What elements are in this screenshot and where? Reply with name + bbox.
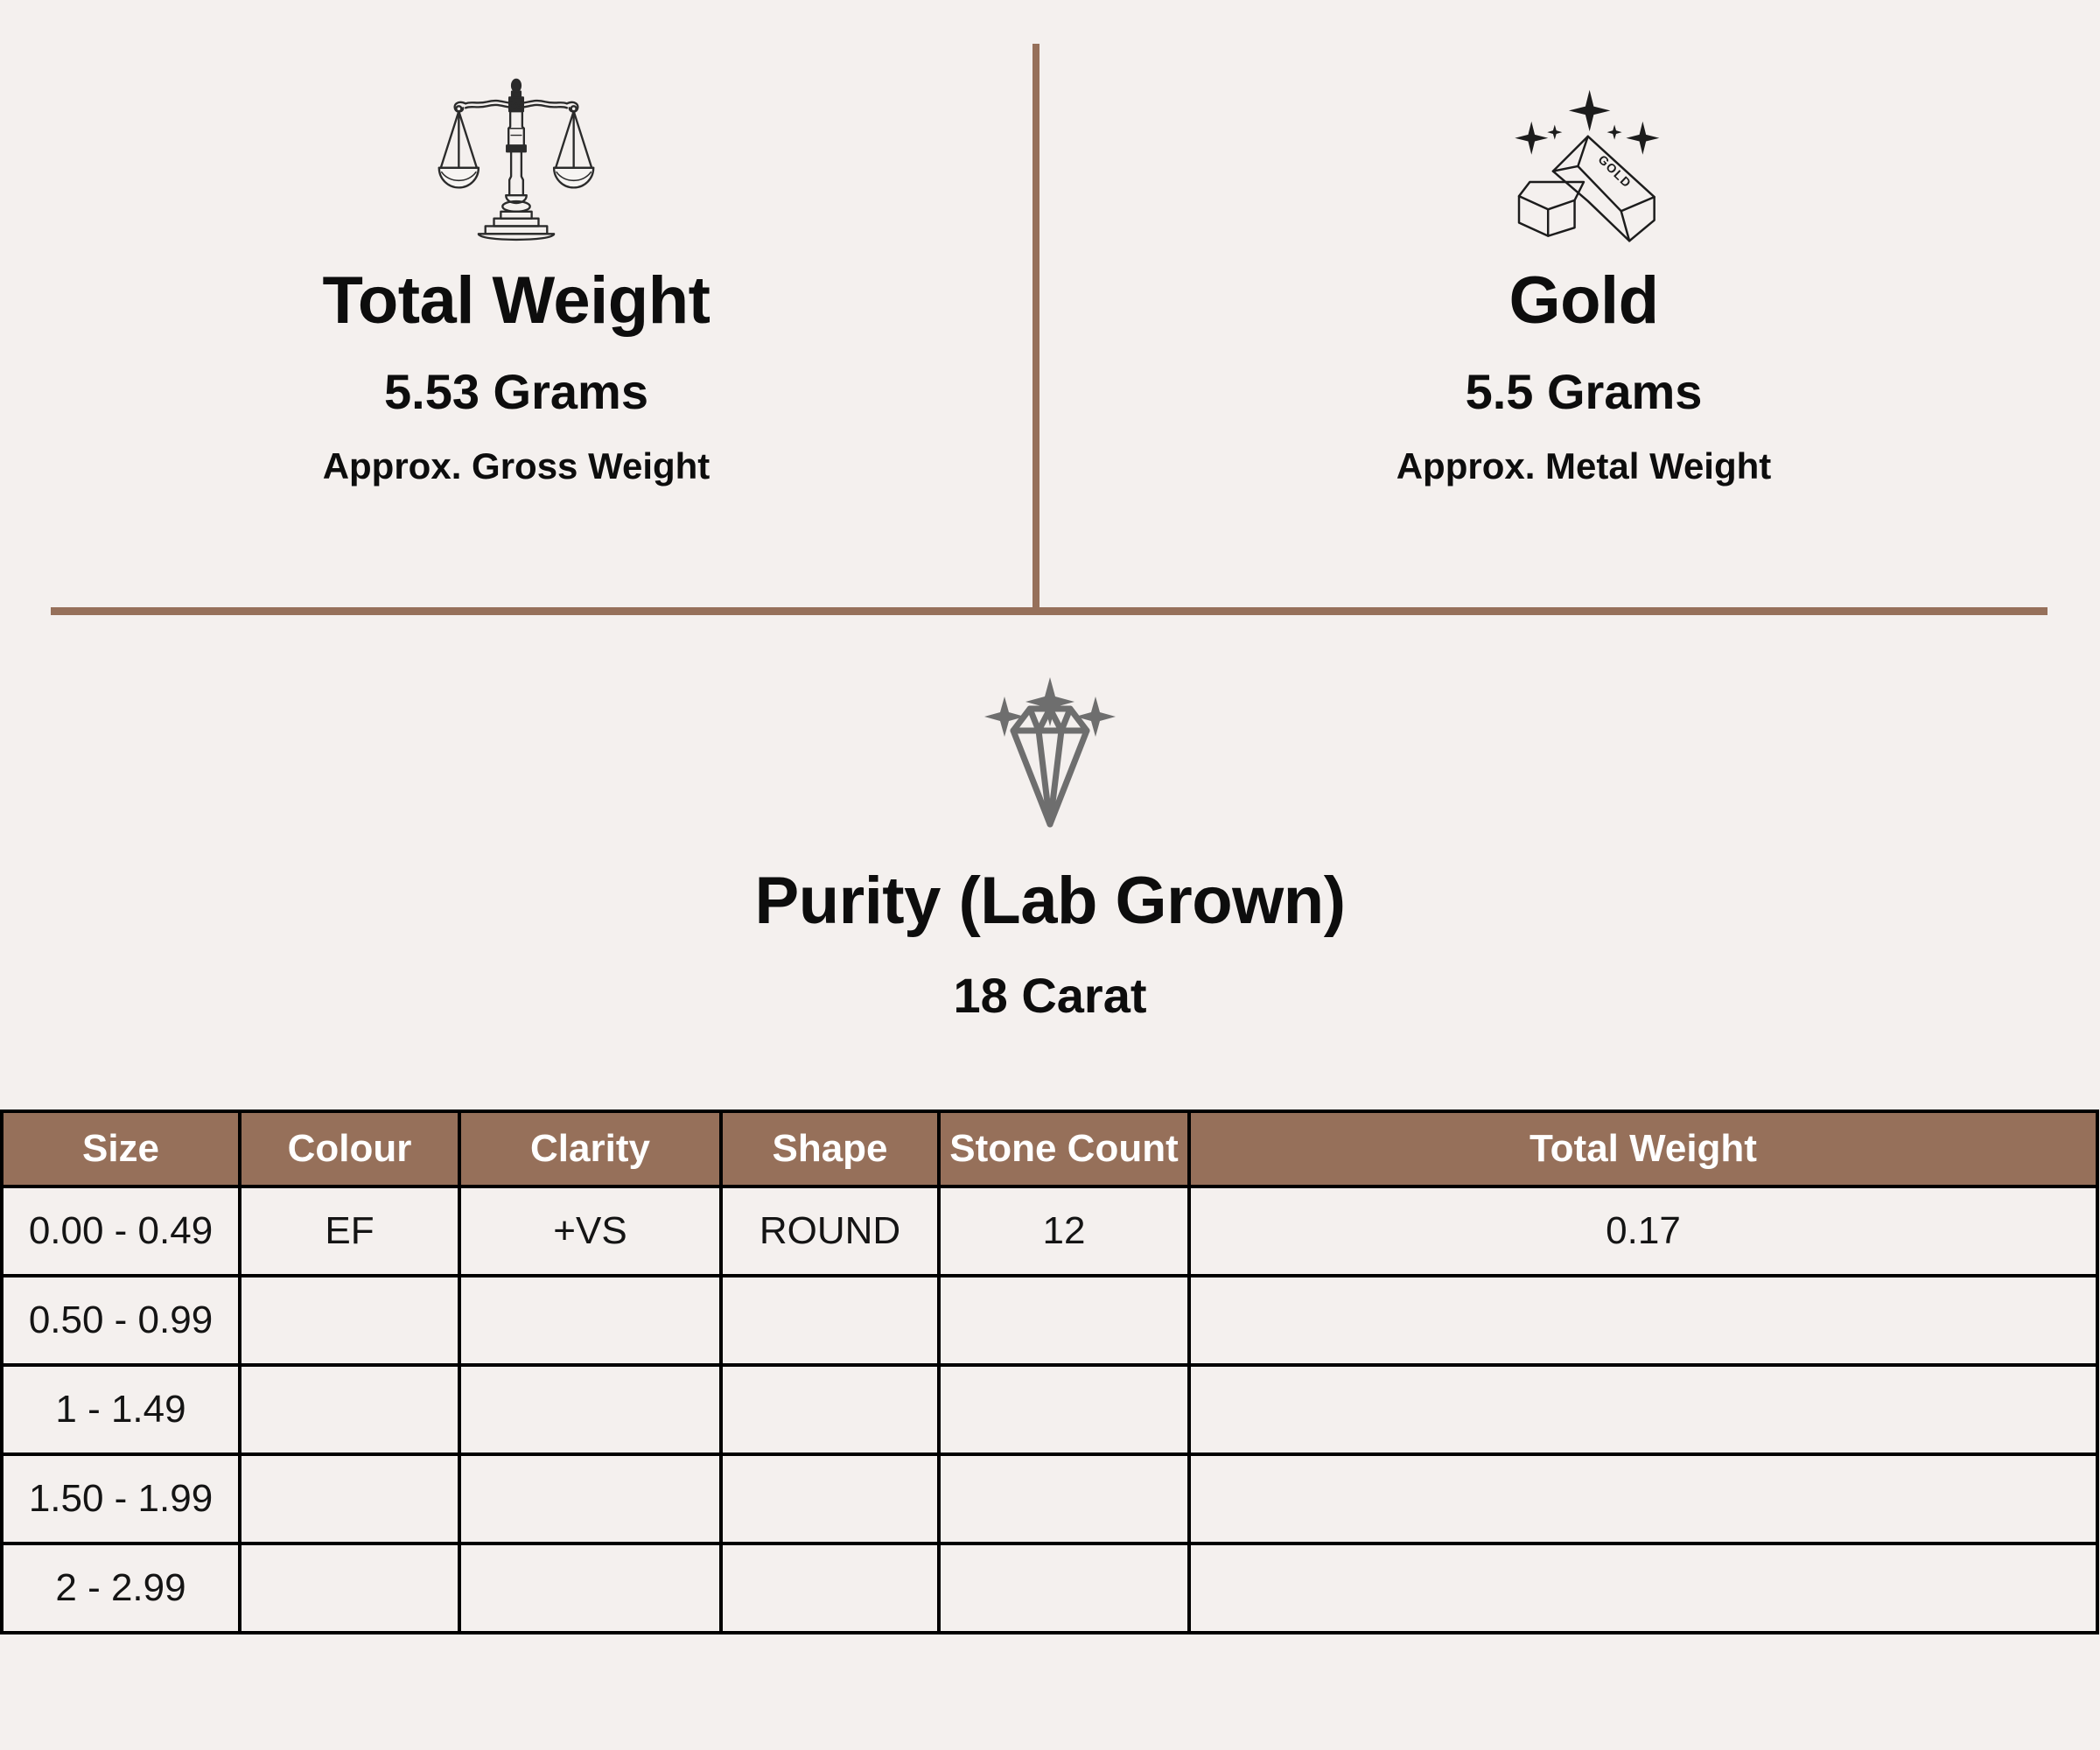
diamond-icon [967, 674, 1133, 831]
column-header-shape: Shape [721, 1111, 939, 1186]
panel-value: 5.5 Grams [1466, 367, 1703, 416]
panel-value: 5.53 Grams [384, 367, 648, 416]
panel-caption: Approx. Metal Weight [1396, 448, 1772, 485]
column-header-total-weight: Total Weight [1189, 1111, 2097, 1186]
cell-total-weight [1189, 1543, 2097, 1633]
table-row: 0.50 - 0.99 [2, 1276, 2097, 1365]
column-header-size: Size [2, 1111, 240, 1186]
total-weight-panel: Total Weight 5.53 Grams Approx. Gross We… [0, 0, 1032, 604]
top-metrics-area: Total Weight 5.53 Grams Approx. Gross We… [0, 0, 2100, 612]
panel-caption: Approx. Gross Weight [323, 448, 710, 485]
cell-size: 1.50 - 1.99 [2, 1454, 240, 1543]
cell-total-weight [1189, 1454, 2097, 1543]
cell-clarity [459, 1454, 721, 1543]
cell-stone-count [939, 1454, 1189, 1543]
cell-total-weight [1189, 1365, 2097, 1454]
cell-colour [240, 1276, 459, 1365]
cell-shape: ROUND [721, 1186, 939, 1276]
gold-bars-icon: GOLD [1496, 45, 1671, 247]
cell-shape [721, 1365, 939, 1454]
cell-clarity [459, 1365, 721, 1454]
cell-shape [721, 1543, 939, 1633]
cell-shape [721, 1454, 939, 1543]
cell-total-weight [1189, 1276, 2097, 1365]
table-row: 0.00 - 0.49 EF +VS ROUND 12 0.17 [2, 1186, 2097, 1276]
balance-scale-icon [430, 45, 602, 247]
purity-title: Purity (Lab Grown) [755, 868, 1346, 934]
table-row: 1.50 - 1.99 [2, 1454, 2097, 1543]
vertical-divider [1032, 44, 1039, 611]
cell-stone-count: 12 [939, 1186, 1189, 1276]
column-header-colour: Colour [240, 1111, 459, 1186]
cell-shape [721, 1276, 939, 1365]
cell-stone-count [939, 1543, 1189, 1633]
column-header-clarity: Clarity [459, 1111, 721, 1186]
cell-colour [240, 1543, 459, 1633]
cell-stone-count [939, 1276, 1189, 1365]
table-header-row: Size Colour Clarity Shape Stone Count To… [2, 1111, 2097, 1186]
cell-colour: EF [240, 1186, 459, 1276]
cell-clarity [459, 1276, 721, 1365]
cell-colour [240, 1454, 459, 1543]
column-header-stone-count: Stone Count [939, 1111, 1189, 1186]
cell-clarity [459, 1543, 721, 1633]
panel-title: Total Weight [323, 268, 710, 334]
stone-spec-table: Size Colour Clarity Shape Stone Count To… [0, 1109, 2099, 1634]
purity-section: Purity (Lab Grown) 18 Carat [0, 674, 2100, 1020]
cell-size: 0.50 - 0.99 [2, 1276, 240, 1365]
horizontal-divider [51, 607, 2047, 615]
panel-title: Gold [1508, 268, 1658, 334]
cell-size: 1 - 1.49 [2, 1365, 240, 1454]
table-row: 1 - 1.49 [2, 1365, 2097, 1454]
cell-total-weight: 0.17 [1189, 1186, 2097, 1276]
cell-clarity: +VS [459, 1186, 721, 1276]
table-row: 2 - 2.99 [2, 1543, 2097, 1633]
cell-size: 0.00 - 0.49 [2, 1186, 240, 1276]
cell-stone-count [939, 1365, 1189, 1454]
cell-colour [240, 1365, 459, 1454]
purity-value: 18 Carat [953, 971, 1146, 1020]
cell-size: 2 - 2.99 [2, 1543, 240, 1633]
gold-panel: GOLD Gold 5.5 Grams Approx. Metal Weight [1067, 0, 2100, 604]
product-spec-sheet: Total Weight 5.53 Grams Approx. Gross We… [0, 0, 2100, 1750]
